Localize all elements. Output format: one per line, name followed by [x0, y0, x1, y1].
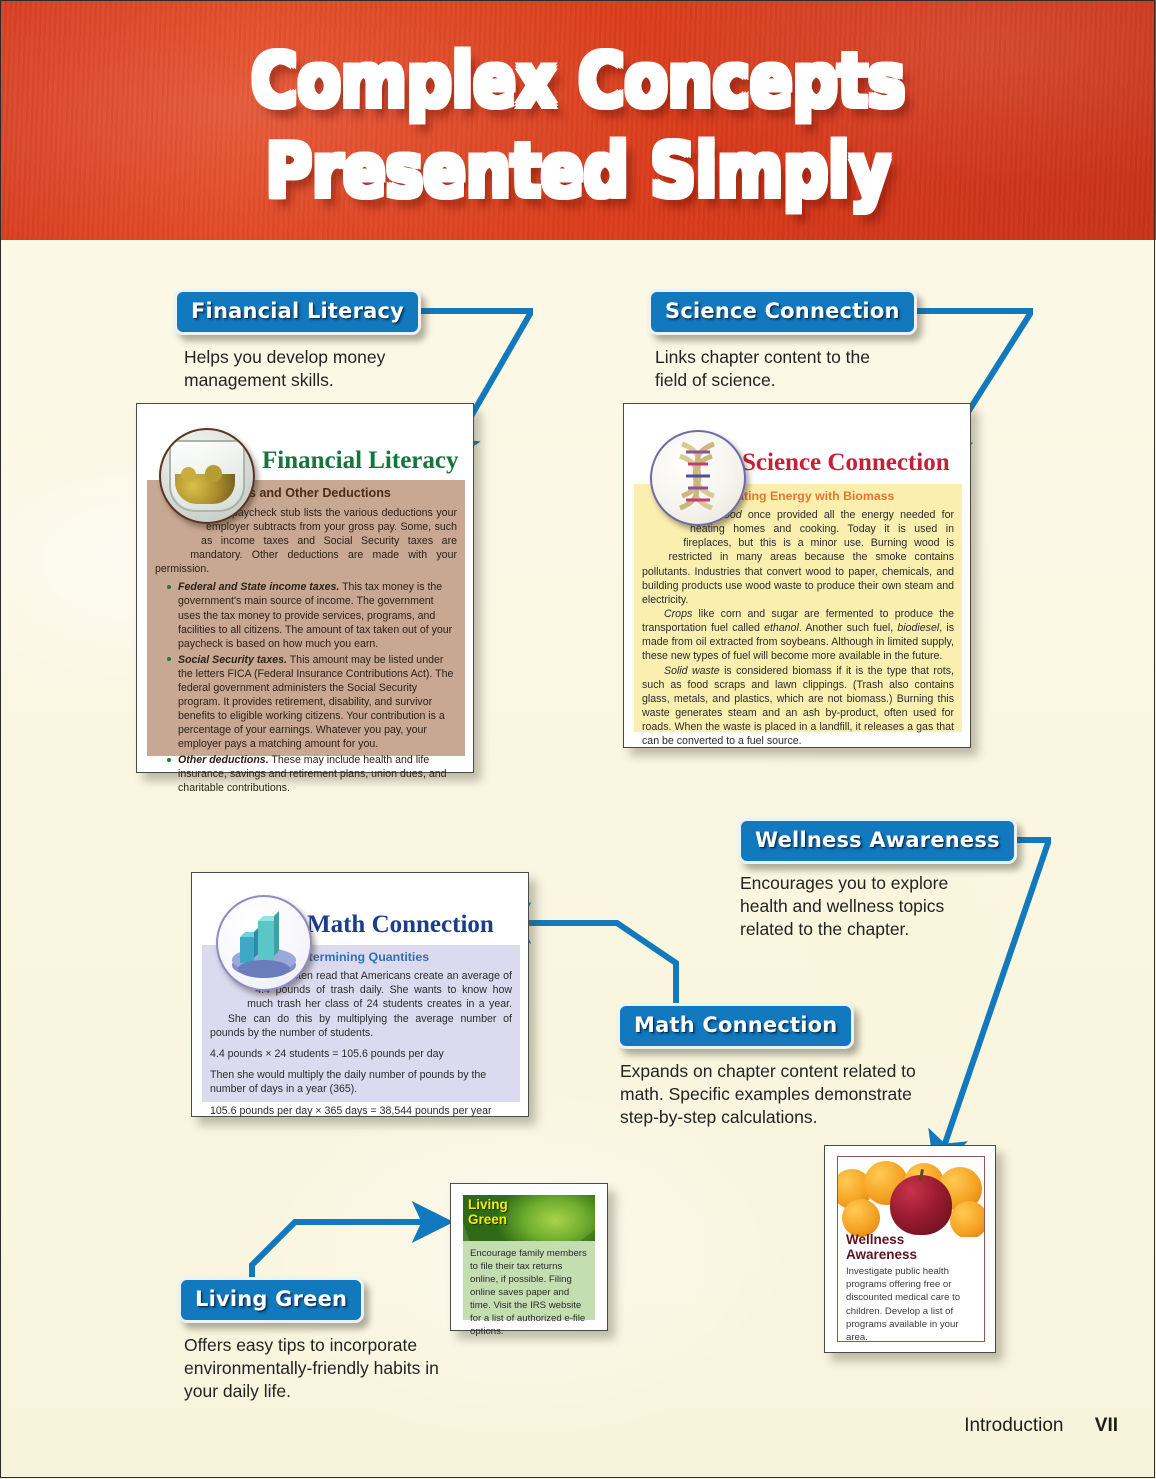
- panel-science-connection: Science Connection Generating Energy wit…: [623, 403, 971, 748]
- tag-label: Living Green: [195, 1287, 347, 1311]
- fruit-photo: [838, 1157, 984, 1237]
- bullet-item: Other deductions. These may include heal…: [169, 753, 457, 795]
- bar-chart-icon: [216, 895, 312, 991]
- panel-paragraph: Then she would multiply the daily number…: [210, 1068, 512, 1096]
- tag-living-green[interactable]: Living Green: [178, 1277, 364, 1323]
- tag-label: Financial Literacy: [191, 299, 404, 323]
- panel-body-math-connection: Kristen read that Americans create an av…: [210, 969, 512, 1125]
- panel-paragraph: Solid waste is considered biomass if it …: [642, 664, 954, 749]
- description-wellness-awareness: Encourages you to explore health and wel…: [740, 872, 970, 941]
- panel-title-math-connection: Math Connection: [307, 911, 494, 939]
- wellness-inner-frame: Wellness Awareness Investigate public he…: [837, 1156, 985, 1342]
- tag-financial-literacy[interactable]: Financial Literacy: [174, 289, 421, 335]
- green-plant-photo: Living Green: [463, 1195, 595, 1241]
- panel-bullet-list: Federal and State income taxes. This tax…: [155, 580, 457, 795]
- panel-paragraph: 105.6 pounds per day × 365 days = 38,544…: [210, 1104, 512, 1118]
- panel-paragraph: Crops like corn and sugar are fermented …: [642, 607, 954, 664]
- wellness-heading-line1: Wellness: [846, 1233, 917, 1248]
- tag-math-connection[interactable]: Math Connection: [617, 1003, 854, 1049]
- wellness-text: Investigate public health programs offer…: [846, 1265, 976, 1342]
- tag-label: Wellness Awareness: [755, 828, 1000, 852]
- page-header-banner: Complex Concepts Presented Simply: [0, 0, 1156, 240]
- tag-label: Science Connection: [665, 299, 900, 323]
- dna-helix-icon: [650, 430, 746, 526]
- panel-body-financial-literacy: Your paycheck stub lists the various ded…: [155, 506, 457, 798]
- panel-living-green: Living Green Encourage family members to…: [450, 1183, 608, 1331]
- living-green-heading: Living Green: [468, 1198, 508, 1227]
- living-green-heading-line2: Green: [468, 1213, 508, 1228]
- bullet-item: Federal and State income taxes. This tax…: [169, 580, 457, 650]
- bullet-term: Social Security taxes.: [178, 654, 287, 666]
- tag-label: Math Connection: [634, 1013, 837, 1037]
- panel-math-connection: Math Connection Determining Quantities K…: [191, 872, 529, 1117]
- banner-title-line2: Presented Simply: [81, 134, 1075, 208]
- living-green-text: Encourage family members to file their t…: [463, 1241, 595, 1320]
- footer-section: Introduction: [964, 1415, 1063, 1436]
- apple-icon: [890, 1175, 952, 1235]
- bullet-term: Federal and State income taxes.: [178, 581, 339, 593]
- banner-title-line2-text: Presented Simply: [266, 128, 891, 214]
- panel-paragraph: 4.4 pounds × 24 students = 105.6 pounds …: [210, 1047, 512, 1061]
- footer-page-number: VII: [1095, 1415, 1118, 1436]
- page-footer: Introduction VII: [964, 1415, 1118, 1437]
- banner-title-line1: Complex Concepts: [81, 44, 1075, 118]
- wellness-heading-line2: Awareness: [846, 1248, 917, 1263]
- bullet-term: Other deductions.: [178, 754, 269, 766]
- tag-science-connection[interactable]: Science Connection: [648, 289, 917, 335]
- panel-body-science-connection: Wood once provided all the energy needed…: [642, 508, 954, 748]
- money-jar-icon: [159, 428, 255, 524]
- description-financial-literacy: Helps you develop money management skill…: [184, 346, 434, 392]
- description-living-green: Offers easy tips to incorporate environm…: [184, 1334, 454, 1403]
- description-science-connection: Links chapter content to the field of sc…: [655, 346, 905, 392]
- wellness-heading: Wellness Awareness: [846, 1233, 917, 1263]
- description-math-connection: Expands on chapter content related to ma…: [620, 1060, 930, 1129]
- panel-title-science-connection: Science Connection: [742, 449, 950, 477]
- bullet-item: Social Security taxes. This amount may b…: [169, 653, 457, 752]
- panel-title-financial-literacy: Financial Literacy: [262, 447, 459, 475]
- panel-wellness-awareness: Wellness Awareness Investigate public he…: [824, 1145, 996, 1353]
- banner-title-line1-text: Complex Concepts: [251, 38, 905, 124]
- panel-financial-literacy: Financial Literacy Taxes and Other Deduc…: [136, 403, 474, 773]
- tag-wellness-awareness[interactable]: Wellness Awareness: [738, 818, 1017, 864]
- living-green-heading-line1: Living: [468, 1198, 508, 1213]
